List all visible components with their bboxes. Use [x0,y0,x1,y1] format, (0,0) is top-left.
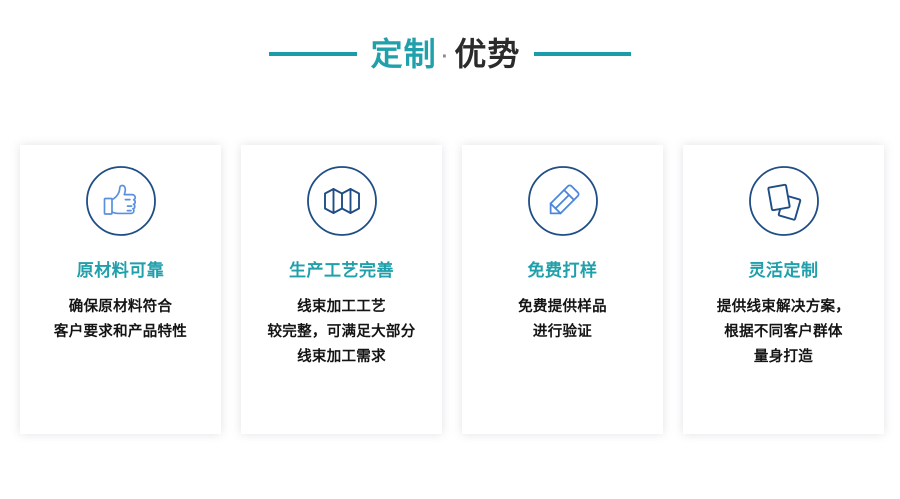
card-body-line: 免费提供样品 [518,295,607,320]
card-body: 确保原材料符合 客户要求和产品特性 [46,295,195,345]
card-body-line: 量身打造 [717,345,850,370]
card-body-line: 较完整，可满足大部分 [268,320,416,345]
feature-card[interactable]: 灵活定制 提供线束解决方案， 根据不同客户群体 量身打造 [683,145,884,434]
feature-card[interactable]: 生产工艺完善 线束加工工艺 较完整，可满足大部分 线束加工需求 [241,145,442,434]
feature-card[interactable]: 免费打样 免费提供样品 进行验证 [462,145,663,434]
title-sub-text: 优势 [454,38,520,70]
stacked-cards-icon [748,165,820,237]
card-body-line: 线束加工工艺 [268,295,416,320]
card-heading: 生产工艺完善 [289,261,394,281]
feature-card[interactable]: 原材料可靠 确保原材料符合 客户要求和产品特性 [20,145,221,434]
card-body-line: 进行验证 [518,320,607,345]
card-body-line: 根据不同客户群体 [717,320,850,345]
pencil-icon [527,165,599,237]
title-rule-right [534,52,631,56]
card-body-line: 线束加工需求 [268,345,416,370]
thumbs-up-icon [85,165,157,237]
card-body-line: 确保原材料符合 [54,295,187,320]
card-body: 线束加工工艺 较完整，可满足大部分 线束加工需求 [260,295,424,370]
card-body-line: 提供线束解决方案， [717,295,850,320]
card-body: 提供线束解决方案， 根据不同客户群体 量身打造 [709,295,858,370]
card-heading: 灵活定制 [749,261,819,281]
card-heading: 免费打样 [528,261,598,281]
title-main-text: 定制 [371,38,437,70]
section-title: 定制 · 优势 [0,30,900,78]
title-rule-left [269,52,357,56]
card-body: 免费提供样品 进行验证 [510,295,615,345]
card-heading: 原材料可靠 [77,261,165,281]
title-separator-dot: · [437,47,455,67]
card-body-line: 客户要求和产品特性 [54,320,187,345]
folded-map-icon [306,165,378,237]
page-title: 定制 · 优势 [371,38,521,70]
feature-card-list: 原材料可靠 确保原材料符合 客户要求和产品特性 生产工艺完善 线束加工工艺 较完… [20,145,885,434]
